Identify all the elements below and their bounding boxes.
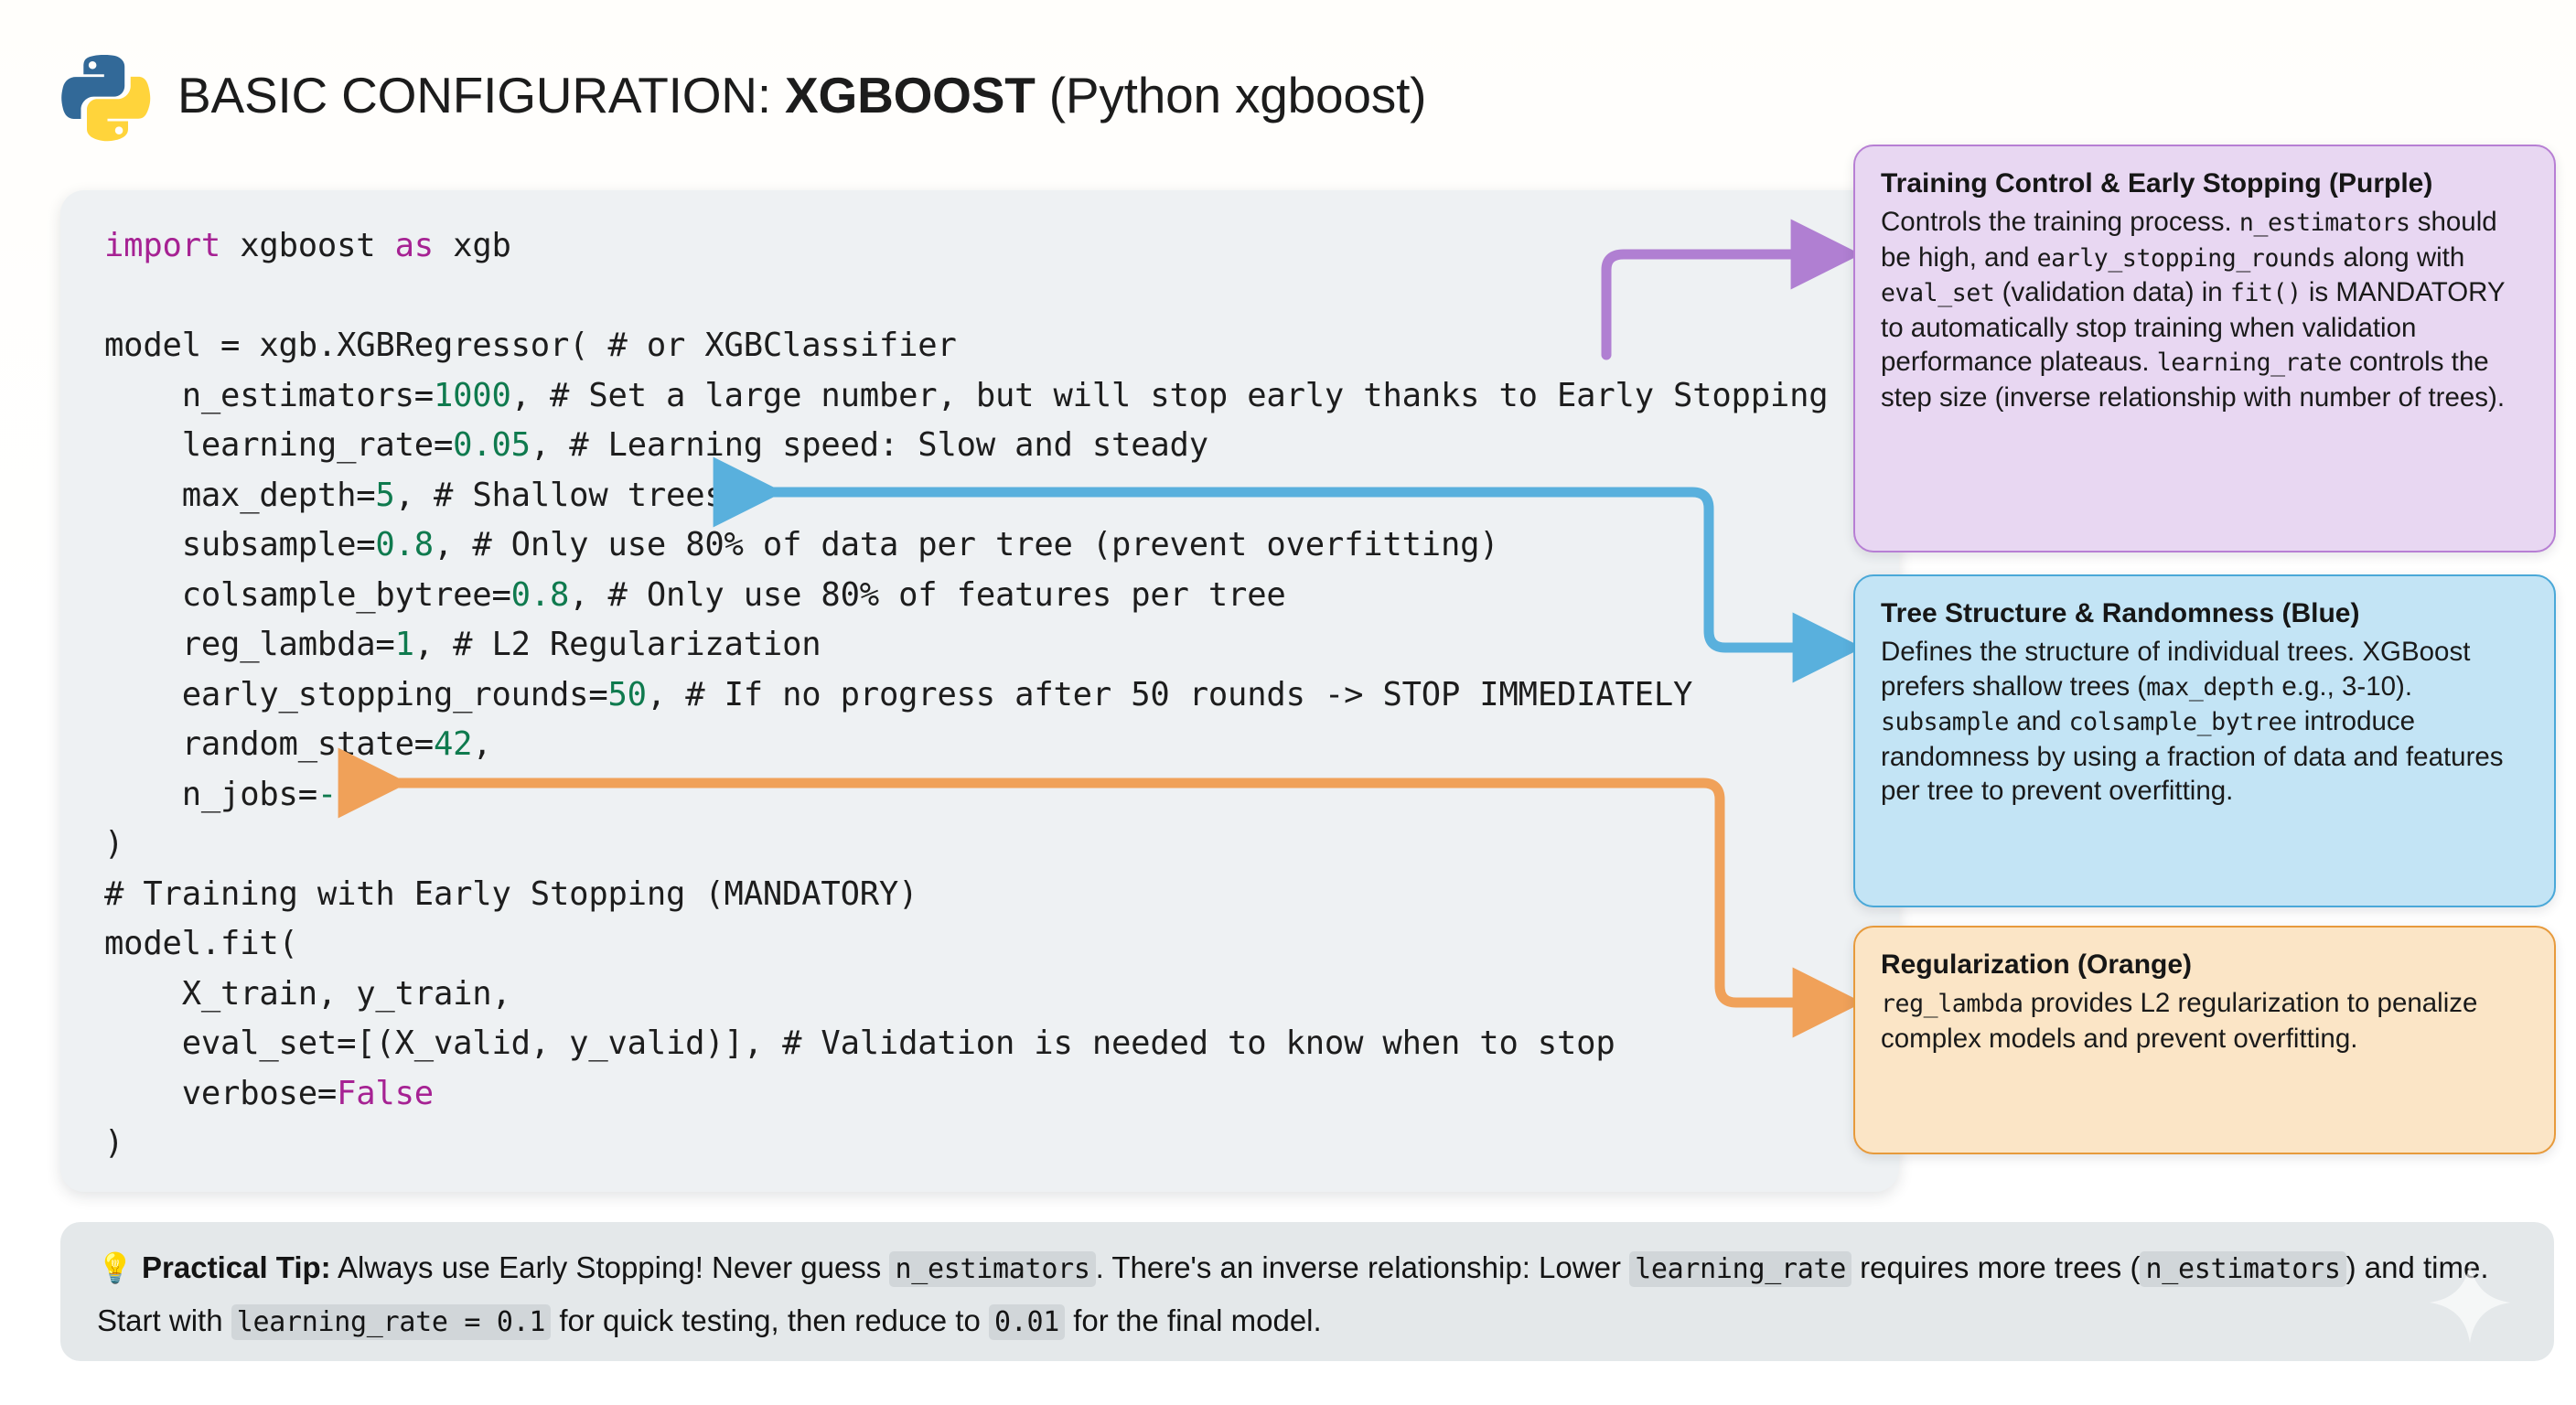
annotation-card-purple: Training Control & Early Stopping (Purpl… [1853,145,2556,552]
title-suffix: (Python xgboost) [1036,67,1427,123]
python-logo-icon [57,48,152,143]
light-bulb-icon: 💡 [97,1251,134,1284]
tip-text-3: requires more trees ( [1851,1250,2140,1284]
code-block-panel: import xgboost as xgb model = xgb.XGBReg… [60,190,1899,1192]
tip-text-1: Always use Early Stopping! Never guess [331,1250,890,1284]
card-orange-body: reg_lambda provides L2 regularization to… [1881,986,2528,1056]
card-orange-title: Regularization (Orange) [1881,948,2528,982]
tip-text-2: . There's an inverse relationship: Lower [1096,1250,1630,1284]
practical-tip-bar: 💡 Practical Tip: Always use Early Stoppi… [60,1222,2554,1361]
sparkle-watermark-icon [2428,1260,2512,1345]
annotation-card-orange: Regularization (Orange) reg_lambda provi… [1853,926,2556,1154]
tip-text-5: for quick testing, then reduce to [551,1303,989,1337]
tip-code-3: n_estimators [2140,1251,2345,1287]
title-strong: XGBOOST [785,67,1036,123]
tip-label: Practical Tip: [142,1250,331,1284]
page-header: BASIC CONFIGURATION: XGBOOST (Python xgb… [57,48,1426,143]
card-purple-body: Controls the training process. n_estimat… [1881,205,2528,414]
card-blue-title: Tree Structure & Randomness (Blue) [1881,596,2528,631]
python-code: import xgboost as xgb model = xgb.XGBReg… [104,221,1855,1169]
annotation-card-blue: Tree Structure & Randomness (Blue) Defin… [1853,574,2556,907]
page-title: BASIC CONFIGURATION: XGBOOST (Python xgb… [177,66,1426,124]
tip-code-2: learning_rate [1629,1251,1851,1287]
tip-code-4: learning_rate = 0.1 [231,1304,551,1340]
tip-text-6: for the final model. [1065,1303,1322,1337]
tip-code-1: n_estimators [889,1251,1095,1287]
card-purple-title: Training Control & Early Stopping (Purpl… [1881,166,2528,201]
card-blue-body: Defines the structure of individual tree… [1881,635,2528,809]
title-prefix: BASIC CONFIGURATION: [177,67,785,123]
tip-code-5: 0.01 [989,1304,1065,1340]
